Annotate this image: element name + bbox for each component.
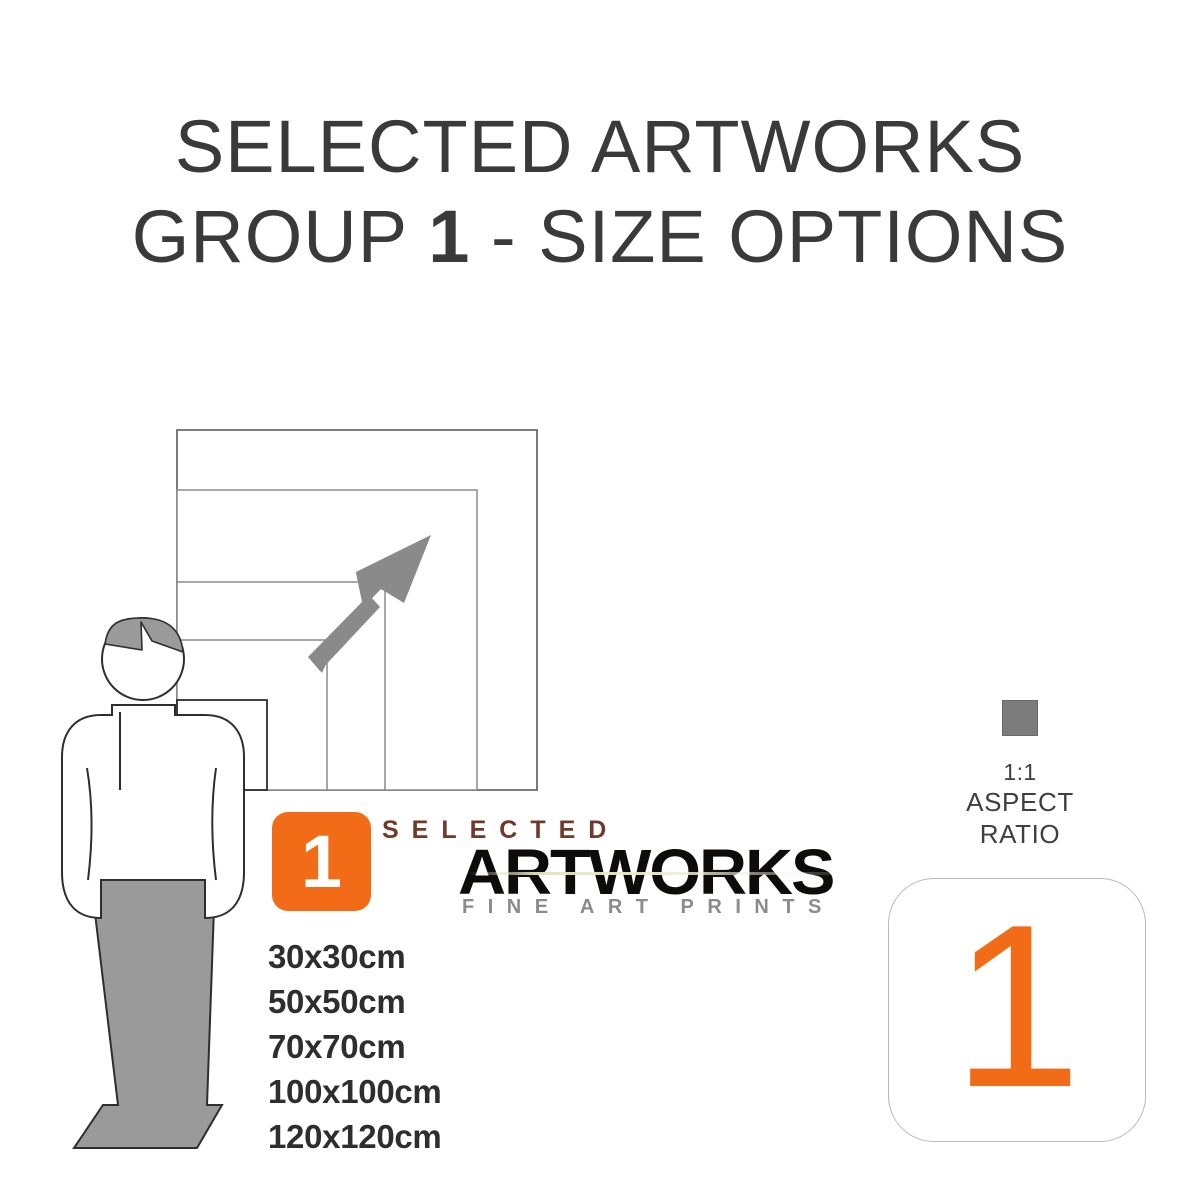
aspect-ratio-label-line1: ASPECT bbox=[930, 787, 1110, 819]
poster-canvas: SELECTED ARTWORKS GROUP 1 - SIZE OPTIONS bbox=[0, 0, 1200, 1200]
logo-badge-number: 1 bbox=[272, 812, 371, 911]
aspect-ratio-label-line2: RATIO bbox=[930, 819, 1110, 851]
size-option-1[interactable]: 30x30cm bbox=[268, 935, 688, 980]
logo-tagline: FINE ART PRINTS bbox=[462, 896, 835, 919]
aspect-ratio-swatch-icon bbox=[1002, 700, 1038, 736]
logo-streak-decoration bbox=[468, 872, 838, 875]
aspect-ratio-block: 1:1 ASPECT RATIO bbox=[930, 700, 1110, 851]
aspect-ratio-value: 1:1 bbox=[930, 758, 1110, 787]
person-lower-body bbox=[74, 880, 222, 1148]
group-number-card[interactable]: 1 bbox=[888, 878, 1146, 1142]
size-option-3[interactable]: 70x70cm bbox=[268, 1025, 688, 1070]
size-option-5[interactable]: 120x120cm bbox=[268, 1115, 688, 1160]
brand-logo: 1 SELECTED ARTWORKS FINE ART PRINTS bbox=[272, 808, 832, 926]
size-option-2[interactable]: 50x50cm bbox=[268, 980, 688, 1025]
size-options-list: 30x30cm 50x50cm 70x70cm 100x100cm 120x12… bbox=[268, 935, 688, 1159]
size-option-4[interactable]: 100x100cm bbox=[268, 1070, 688, 1115]
group-card-number: 1 bbox=[889, 879, 1145, 1141]
